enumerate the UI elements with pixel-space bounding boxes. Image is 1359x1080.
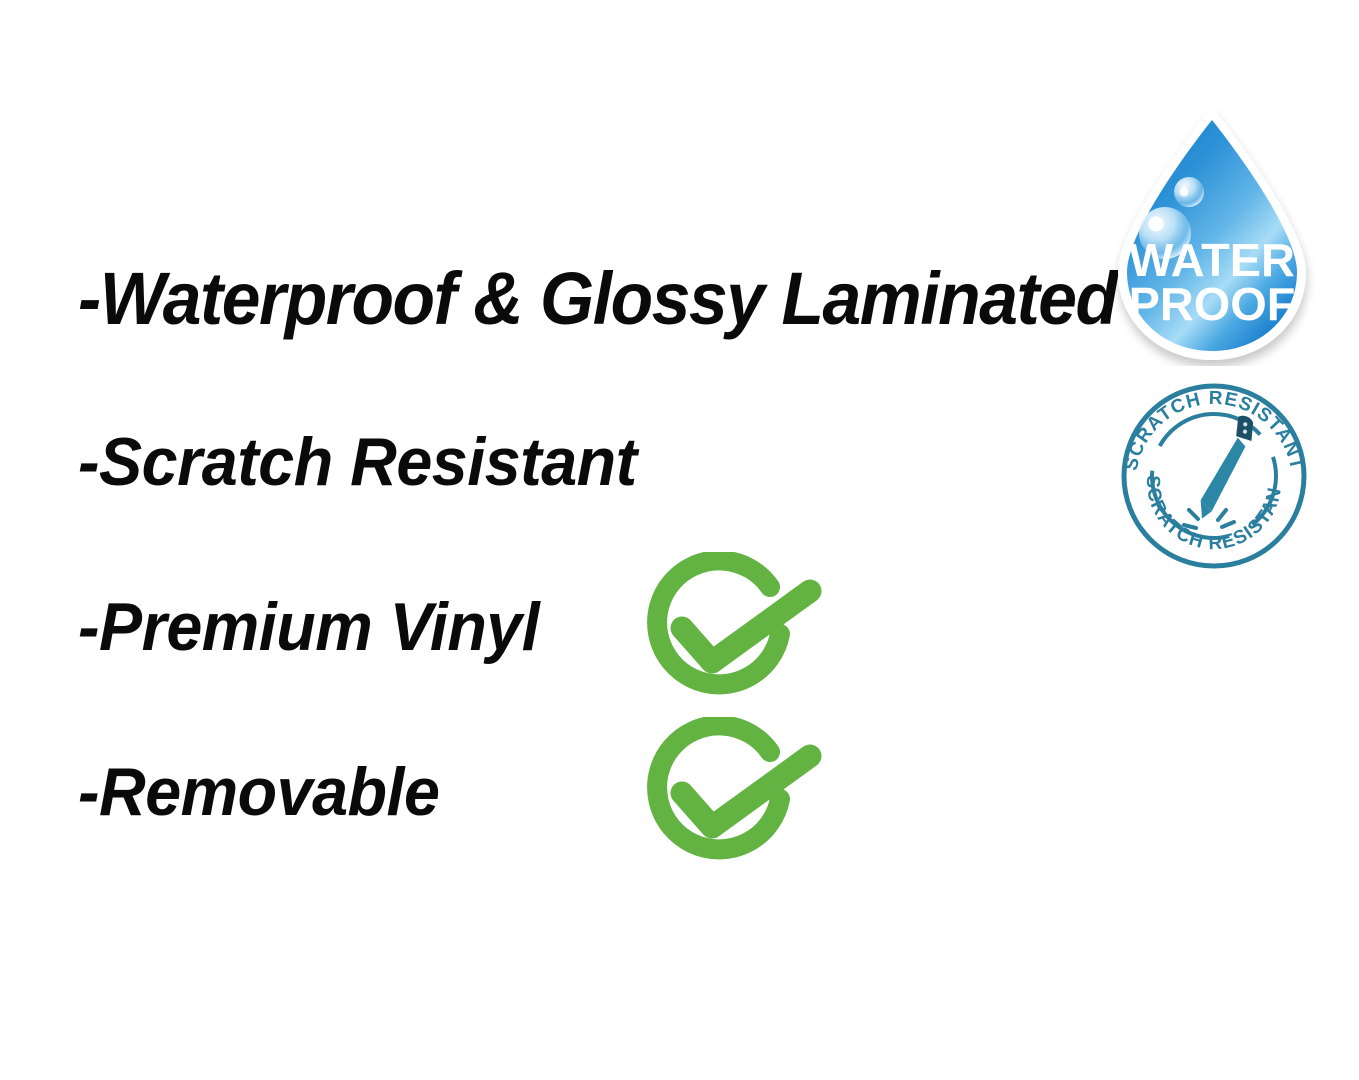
feature-graphic-canvas: -Waterproof & Glossy Laminated -Scratch … — [0, 0, 1359, 1080]
feature-item-scratch-resistant: -Scratch Resistant — [78, 428, 637, 496]
waterproof-droplet-badge: WATER PROOF — [1106, 104, 1318, 366]
check-mark — [682, 756, 810, 827]
seal-top-text: SCRATCH RESISTANT — [1121, 388, 1307, 473]
green-check-circle-icon-premium-vinyl — [640, 552, 828, 712]
feature-item-waterproof-glossy-laminated: -Waterproof & Glossy Laminated — [78, 262, 1117, 336]
bubble-small-icon — [1174, 177, 1204, 207]
feature-item-premium-vinyl: -Premium Vinyl — [78, 593, 539, 661]
check-mark — [682, 591, 810, 662]
waterproof-line2: PROOF — [1129, 278, 1296, 329]
feature-item-removable: -Removable — [78, 758, 439, 826]
green-check-circle-icon-removable — [640, 717, 828, 877]
scratch-resistant-seal-badge: SCRATCH RESISTANT SCRATCH RESISTANT — [1114, 382, 1314, 570]
